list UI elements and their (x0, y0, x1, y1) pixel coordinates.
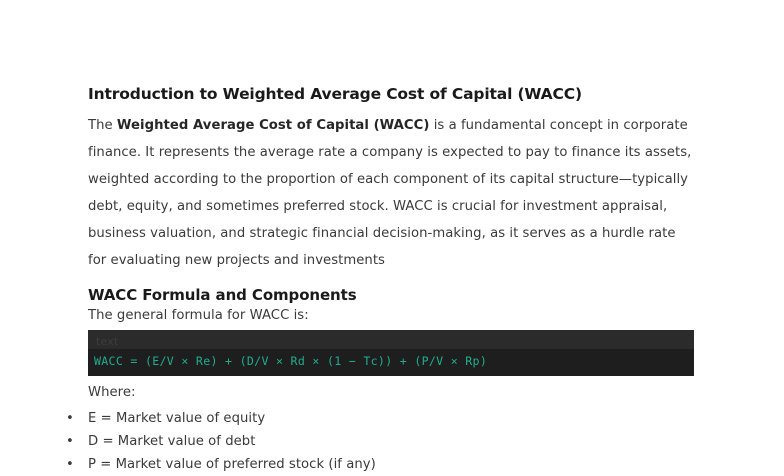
bullet-icon: • (66, 430, 74, 453)
document-page: Introduction to Weighted Average Cost of… (0, 0, 784, 441)
list-item-label: E = Market value of equity (88, 411, 265, 426)
code-block-header: text (88, 330, 694, 349)
bullet-icon: • (66, 453, 74, 476)
intro-paragraph: The Weighted Average Cost of Capital (WA… (88, 112, 694, 274)
formula-lead-line: The general formula for WACC is: (88, 306, 694, 326)
bullet-icon: • (66, 407, 74, 430)
code-line-wacc-formula: WACC = (E/V × Re) + (D/V × Rd × (1 − Tc)… (94, 353, 688, 370)
page-title: Introduction to Weighted Average Cost of… (88, 84, 694, 106)
list-item-label: P = Market value of preferred stock (if … (88, 457, 376, 472)
list-item: • E = Market value of equity (66, 407, 672, 430)
list-item: • P = Market value of preferred stock (i… (66, 453, 672, 476)
code-language-label: text (96, 335, 119, 348)
section-heading-formula: WACC Formula and Components (88, 285, 694, 305)
intro-text-after-bold: is a fundamental concept in corporate fi… (88, 118, 691, 268)
intro-text-before-bold: The (88, 118, 117, 133)
code-block-body[interactable]: WACC = (E/V × Re) + (D/V × Rd × (1 − Tc)… (88, 349, 694, 376)
definitions-list: • E = Market value of equity • D = Marke… (66, 407, 672, 476)
document-content: Introduction to Weighted Average Cost of… (88, 84, 694, 476)
list-item: • D = Market value of debt (66, 430, 672, 453)
list-item-label: D = Market value of debt (88, 434, 255, 449)
code-block: text WACC = (E/V × Re) + (D/V × Rd × (1 … (88, 330, 694, 376)
intro-bold-term: Weighted Average Cost of Capital (WACC) (117, 118, 430, 133)
where-label: Where: (88, 381, 694, 405)
